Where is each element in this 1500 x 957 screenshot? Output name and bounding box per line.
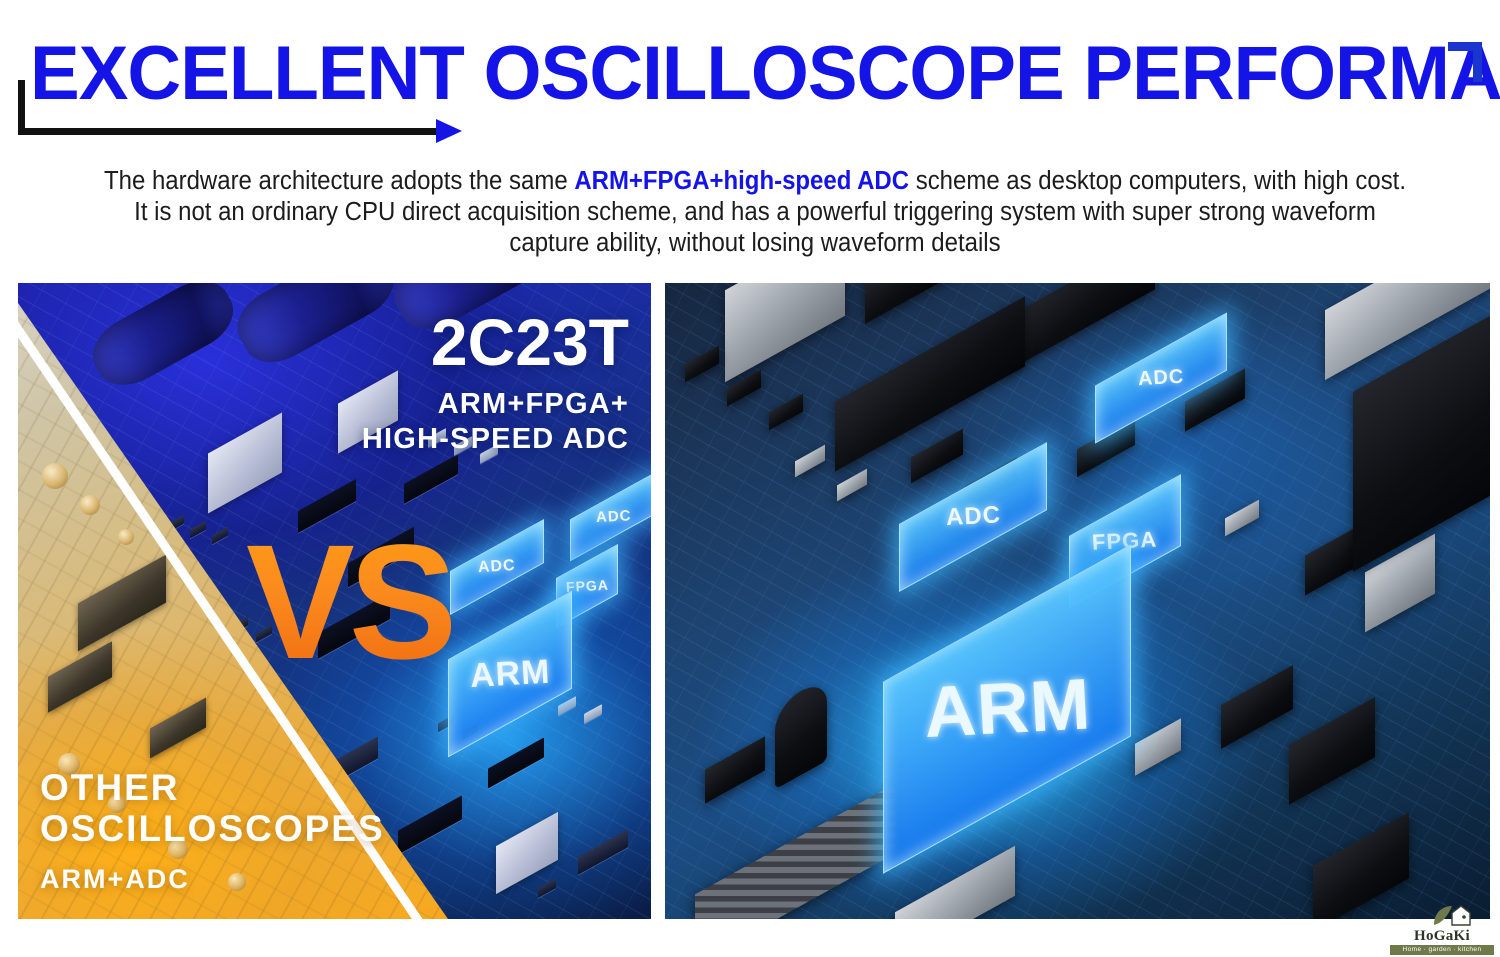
chip-label: ARM: [469, 652, 551, 695]
smd-component: [538, 878, 556, 898]
ic-package: [578, 829, 628, 875]
watermark-tagline: Home · garden · kitchen: [1390, 945, 1494, 955]
electrolytic-capacitor: [775, 677, 827, 790]
other-line-2: OSCILLOSCOPES: [40, 808, 385, 849]
chip-label: ADC: [478, 557, 517, 577]
smd-component: [190, 521, 206, 539]
smd-component: [705, 736, 765, 803]
smd-component: [558, 696, 576, 716]
subtitle-paragraph: The hardware architecture adopts the sam…: [102, 166, 1409, 259]
subtitle-highlight: ARM+FPGA+high-speed ADC: [574, 167, 909, 195]
solder-pad: [118, 529, 134, 545]
other-oscilloscopes-label: OTHER OSCILLOSCOPES: [40, 767, 385, 849]
ic-package: [1005, 283, 1155, 373]
corner-bracket-vertical: [1473, 42, 1482, 82]
ic-package: [404, 454, 458, 504]
smd-component: [795, 445, 825, 478]
connector-housing: [725, 283, 845, 382]
ic-package: [398, 795, 462, 854]
right-comparison-image: ADC ADC FPGA ARM: [665, 283, 1490, 919]
chip-label: ADC: [596, 507, 632, 526]
crystal-oscillator: [1135, 718, 1181, 775]
chip-label: ADC: [945, 502, 1001, 533]
smd-component: [837, 469, 867, 502]
capacitor-cylinder: [82, 283, 244, 397]
capacitor-cylinder: [226, 283, 404, 375]
leaf-house-svg: [1390, 903, 1494, 929]
other-architecture-label: ARM+ADC: [40, 864, 190, 895]
vs-label: VS: [246, 520, 451, 683]
arch-line-1: ARM+FPGA+: [438, 388, 629, 420]
chip-label: ADC: [1137, 365, 1184, 390]
smd-component: [769, 394, 803, 431]
chip-label: ARM: [921, 664, 1092, 755]
smd-component: [212, 527, 228, 545]
watermark-name: HoGaKi: [1390, 929, 1494, 944]
solder-pad: [228, 873, 246, 891]
rule-arrowhead-icon: [436, 119, 462, 143]
ic-package: [1221, 665, 1293, 749]
rule-horizontal-bar: [18, 128, 440, 135]
corner-bracket-decoration: [1448, 42, 1482, 82]
header: EXCELLENT OSCILLOSCOPE PERFORMANCE The h…: [0, 0, 1500, 270]
product-name-label: 2C23T: [431, 309, 629, 375]
ic-package: [1289, 697, 1375, 805]
smd-component: [685, 346, 719, 383]
solder-pad: [42, 463, 68, 489]
watermark-logo: HoGaKi Home · garden · kitchen: [1390, 903, 1494, 955]
solder-pad: [80, 495, 100, 515]
product-architecture-label: ARM+FPGA+ HIGH-SPEED ADC: [299, 387, 629, 457]
leaf-house-icon: [1390, 903, 1494, 929]
left-comparison-image: ADC ADC FPGA ARM 2C23T: [18, 283, 651, 919]
white-relay-component: [208, 412, 282, 513]
heatsink-ridged: [695, 784, 895, 919]
smd-component: [584, 704, 602, 724]
arch-line-2: HIGH-SPEED ADC: [362, 423, 629, 455]
ic-package: [488, 737, 544, 788]
page-title: EXCELLENT OSCILLOSCOPE PERFORMANCE: [30, 36, 1500, 112]
other-line-1: OTHER: [40, 767, 180, 808]
ic-package: [865, 283, 955, 324]
rule-vertical-bar: [18, 80, 25, 135]
smd-component: [1225, 500, 1259, 537]
subtitle-text-before: The hardware architecture adopts the sam…: [104, 167, 574, 195]
comparison-panels: ADC ADC FPGA ARM 2C23T: [0, 283, 1500, 919]
smd-component: [911, 429, 963, 484]
